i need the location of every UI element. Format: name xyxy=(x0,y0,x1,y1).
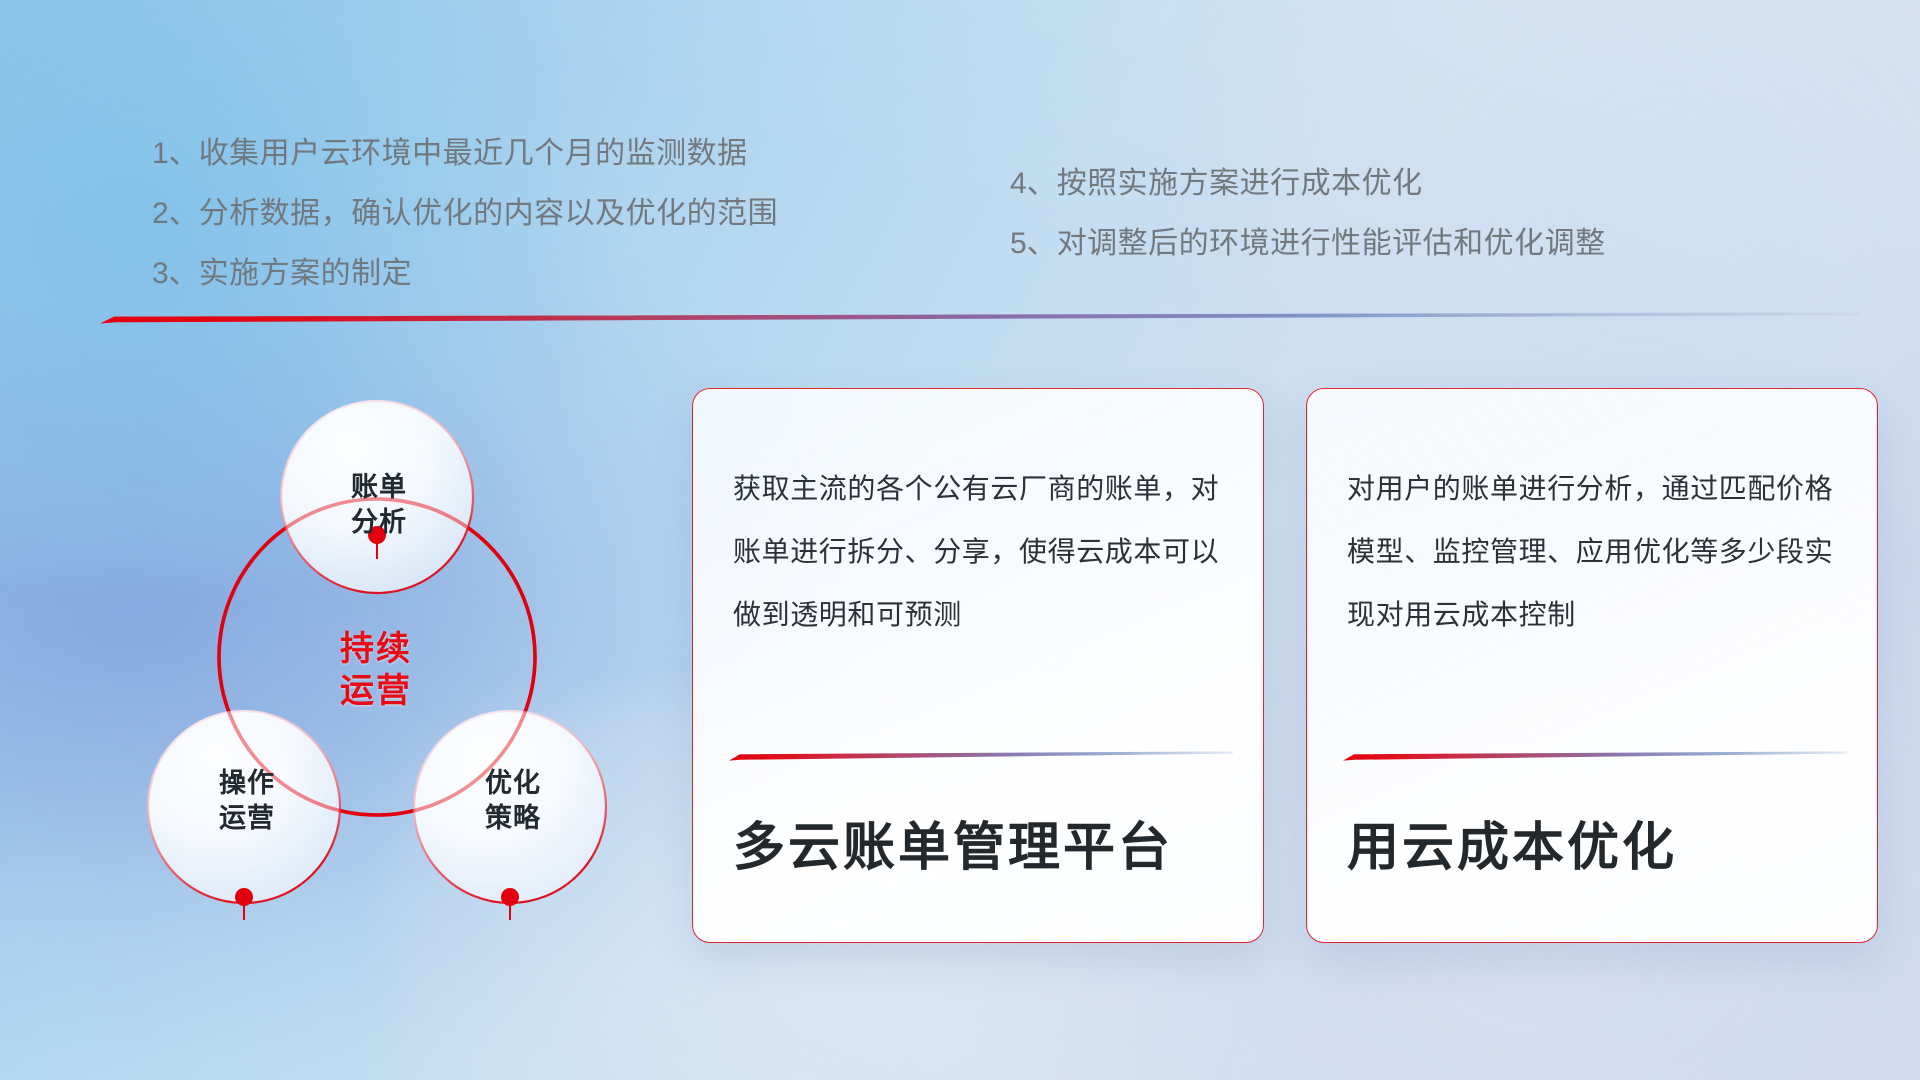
step-number: 1、 xyxy=(152,137,199,170)
step-item: 1、收集用户云环境中最近几个月的监测数据 xyxy=(152,128,748,172)
continuous-operations-diagram: 账单 分析 操作 运营 优化 策略 持续 运营 xyxy=(96,352,656,952)
card-title: 用云成本优化 xyxy=(1347,817,1847,879)
step-item: 4、按照实施方案进行成本优化 xyxy=(1010,158,1423,202)
step-text: 分析数据，确认优化的内容以及优化的范围 xyxy=(199,197,779,230)
node-dot-bottom-right xyxy=(501,888,519,920)
slide-stage: 1、收集用户云环境中最近几个月的监测数据 2、分析数据，确认优化的内容以及优化的… xyxy=(0,0,1920,1080)
bubble-label-optimization-strategy: 优化 策略 xyxy=(428,766,598,836)
card-multi-cloud-billing-platform[interactable]: 获取主流的各个公有云厂商的账单，对账单进行拆分、分享，使得云成本可以做到透明和可… xyxy=(692,388,1264,943)
card-title: 多云账单管理平台 xyxy=(733,817,1233,879)
step-text: 收集用户云环境中最近几个月的监测数据 xyxy=(199,137,748,170)
step-number: 5、 xyxy=(1010,227,1057,260)
step-item: 2、分析数据，确认优化的内容以及优化的范围 xyxy=(152,188,778,232)
step-text: 按照实施方案进行成本优化 xyxy=(1057,167,1423,200)
section-divider xyxy=(100,312,1860,326)
step-text: 实施方案的制定 xyxy=(199,257,413,290)
step-number: 2、 xyxy=(152,197,199,230)
bubble-label-operations: 操作 运营 xyxy=(162,766,332,836)
step-text: 对调整后的环境进行性能评估和优化调整 xyxy=(1057,227,1606,260)
card-cloud-cost-optimization[interactable]: 对用户的账单进行分析，通过匹配价格模型、监控管理、应用优化等多少段实现对用云成本… xyxy=(1306,388,1878,943)
node-dot-bottom-left xyxy=(235,888,253,920)
step-item: 5、对调整后的环境进行性能评估和优化调整 xyxy=(1010,218,1606,262)
step-number: 3、 xyxy=(152,257,199,290)
card-body-text: 获取主流的各个公有云厂商的账单，对账单进行拆分、分享，使得云成本可以做到透明和可… xyxy=(733,457,1229,646)
card-divider xyxy=(729,751,1233,763)
step-number: 4、 xyxy=(1010,167,1057,200)
card-body-text: 对用户的账单进行分析，通过匹配价格模型、监控管理、应用优化等多少段实现对用云成本… xyxy=(1347,457,1843,646)
step-item: 3、实施方案的制定 xyxy=(152,248,412,292)
diagram-center-label: 持续 运营 xyxy=(271,628,481,712)
bubble-label-billing-analysis: 账单 分析 xyxy=(294,470,464,540)
card-divider xyxy=(1343,751,1847,763)
